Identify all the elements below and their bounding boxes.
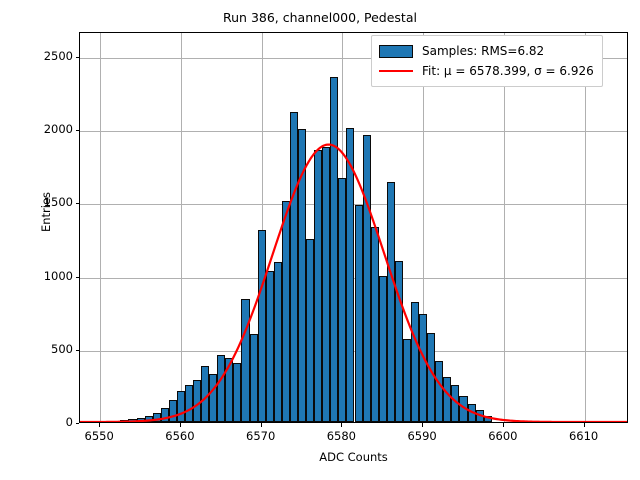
- figure: Run 386, channel000, Pedestal 6550656065…: [0, 0, 640, 480]
- chart-title: Run 386, channel000, Pedestal: [0, 10, 640, 25]
- y-tick-mark: [76, 57, 80, 58]
- x-tick-label: 6550: [69, 429, 129, 443]
- y-tick-label: 500: [13, 342, 73, 356]
- x-tick-label: 6590: [392, 429, 452, 443]
- legend-label-fit: Fit: μ = 6578.399, σ = 6.926: [422, 64, 594, 78]
- x-tick-label: 6570: [231, 429, 291, 443]
- y-axis-label: Entries: [39, 152, 53, 272]
- x-axis-label: ADC Counts: [79, 450, 628, 464]
- legend-item-fit: Fit: μ = 6578.399, σ = 6.926: [379, 61, 594, 81]
- x-tick-mark: [503, 423, 504, 427]
- x-tick-mark: [180, 423, 181, 427]
- x-tick-mark: [261, 423, 262, 427]
- gaussian-fit-curve: [80, 33, 627, 422]
- y-tick-mark: [76, 203, 80, 204]
- x-tick-label: 6610: [554, 429, 614, 443]
- y-tick-label: 2000: [13, 122, 73, 136]
- x-tick-label: 6560: [150, 429, 210, 443]
- legend-label-samples: Samples: RMS=6.82: [422, 44, 544, 58]
- x-tick-mark: [341, 423, 342, 427]
- legend-patch-icon: [379, 45, 413, 58]
- y-tick-label: 0: [13, 415, 73, 429]
- y-tick-mark: [76, 277, 80, 278]
- legend-item-samples: Samples: RMS=6.82: [379, 41, 594, 61]
- y-tick-label: 2500: [13, 49, 73, 63]
- x-tick-mark: [422, 423, 423, 427]
- plot-axes: [79, 32, 628, 423]
- x-tick-mark: [99, 423, 100, 427]
- x-tick-label: 6580: [311, 429, 371, 443]
- legend: Samples: RMS=6.82 Fit: μ = 6578.399, σ =…: [371, 35, 603, 87]
- x-tick-mark: [584, 423, 585, 427]
- legend-line-icon: [379, 65, 413, 78]
- y-tick-mark: [76, 130, 80, 131]
- y-tick-mark: [76, 423, 80, 424]
- x-tick-label: 6600: [473, 429, 533, 443]
- y-tick-mark: [76, 350, 80, 351]
